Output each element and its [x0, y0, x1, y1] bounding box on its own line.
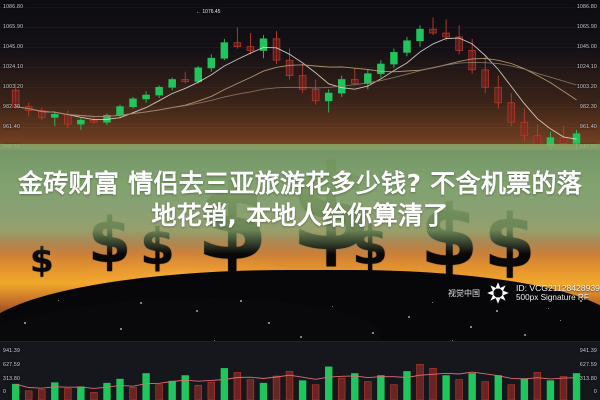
volume-bar	[469, 373, 476, 400]
candle-body	[130, 99, 137, 107]
candle-body	[377, 64, 384, 74]
volume-bar	[91, 392, 98, 400]
volume-tick-right-3: 0	[594, 389, 597, 395]
price-tick-right-0: 1086.80	[577, 4, 597, 10]
light-speck-19	[470, 326, 472, 328]
page-title: 金砖财富 情侣去三亚旅游花多少钱? 不含机票的落 地花销, 本地人给你算清了	[0, 168, 600, 232]
watermark-license: 500px Signature RF	[516, 293, 600, 303]
volume-bar	[325, 367, 332, 400]
candle-body	[64, 114, 71, 124]
light-speck-16	[240, 300, 242, 302]
image-canvas: 1086.801065.901045.001024.101003.20982.3…	[0, 0, 600, 400]
volume-bar	[169, 381, 176, 400]
candle-body	[391, 52, 398, 64]
candle-body	[417, 29, 424, 41]
volume-bar	[508, 385, 515, 400]
volume-bar	[430, 368, 437, 400]
volume-bar	[364, 382, 371, 400]
candle-body	[143, 95, 150, 99]
headline-line-1: 金砖财富 情侣去三亚旅游花多少钱? 不含机票的落	[18, 169, 582, 198]
candle-body	[521, 122, 528, 136]
candle-body	[117, 107, 124, 116]
volume-bar	[417, 364, 424, 400]
volume-bar	[260, 383, 267, 400]
volume-bar	[64, 389, 71, 400]
watermark-id: ID: VCG211284289394	[516, 283, 600, 293]
volume-bar	[12, 384, 19, 400]
candle-body	[469, 50, 476, 69]
candle-body	[430, 29, 437, 33]
volume-tick-right-0: 941.39	[580, 348, 597, 354]
candle-body	[351, 80, 358, 84]
volume-bar	[77, 387, 84, 400]
candle-body	[443, 33, 450, 37]
volume-tick-right-2: 313.80	[580, 376, 597, 382]
light-speck-4	[268, 322, 270, 324]
volume-bar	[25, 391, 32, 400]
candle-body	[325, 93, 332, 101]
price-tick-right-1: 1065.90	[577, 24, 597, 30]
light-speck-1	[120, 328, 122, 330]
volume-bar	[38, 390, 45, 400]
volume-bar	[104, 383, 111, 400]
volume-tick-right-1: 627.59	[580, 362, 597, 368]
candle-body	[91, 120, 98, 122]
volume-bar	[391, 385, 398, 400]
candle-body	[51, 114, 58, 117]
volume-bar	[156, 385, 163, 400]
volume-bar	[443, 376, 450, 400]
volume-bar	[51, 383, 58, 400]
volume-bar	[312, 385, 319, 400]
candle-body	[169, 80, 176, 88]
light-speck-7	[372, 332, 374, 334]
price-tick-left-2: 1045.00	[3, 44, 23, 50]
vcg-starburst-icon	[485, 280, 511, 306]
candle-body	[560, 138, 567, 144]
volume-bar	[117, 379, 124, 400]
candle-body	[286, 60, 293, 76]
volume-tick-left-2: 313.80	[3, 376, 20, 382]
price-tick-left-5: 982.30	[3, 104, 20, 110]
price-tick-left-4: 1003.20	[3, 84, 23, 90]
volume-bar	[182, 376, 189, 400]
moving-average-line-5	[16, 38, 577, 139]
volume-bar	[247, 380, 254, 400]
candle-body	[508, 103, 515, 122]
volume-chart-panel: 941.39627.59313.800 941.39627.59313.800	[0, 341, 600, 400]
volume-bar	[456, 380, 463, 400]
moving-average-line-24	[16, 62, 577, 116]
volume-bar	[221, 368, 228, 400]
volume-bars-plot	[0, 342, 600, 400]
volume-bar	[234, 372, 241, 400]
volume-bar	[273, 376, 280, 400]
headline-line-2: 地花销, 本地人给你算清了	[0, 200, 600, 232]
price-tick-right-6: 961.40	[580, 124, 597, 130]
candle-body	[234, 43, 241, 47]
candle-body	[208, 58, 215, 68]
watermark-text: ID: VCG211284289394 500px Signature RF	[516, 283, 600, 303]
price-tick-left-6: 961.40	[3, 124, 20, 130]
volume-bar	[404, 371, 411, 400]
light-speck-22	[24, 322, 26, 324]
price-tick-right-4: 1003.20	[577, 84, 597, 90]
light-speck-10	[496, 310, 498, 312]
price-tick-left-0: 1086.80	[3, 4, 23, 10]
candle-body	[312, 89, 319, 101]
candle-body	[495, 87, 502, 103]
price-tick-right-5: 982.30	[580, 104, 597, 110]
volume-tick-left-3: 0	[3, 389, 6, 395]
volume-tick-left-0: 941.39	[3, 348, 20, 354]
volume-tick-left-1: 627.59	[3, 362, 20, 368]
volume-bar	[338, 378, 345, 400]
volume-ma-line	[16, 372, 577, 388]
candle-body	[482, 70, 489, 87]
vcg-brand-label: 视觉中国	[448, 288, 480, 299]
volume-bar	[143, 373, 150, 400]
volume-bar	[521, 379, 528, 400]
candle-body	[182, 80, 189, 82]
volume-bar	[534, 372, 541, 400]
price-tick-right-3: 1024.10	[577, 64, 597, 70]
volume-bar	[495, 376, 502, 400]
volume-bar	[195, 385, 202, 400]
volume-bar	[547, 381, 554, 400]
volume-bar	[351, 373, 358, 400]
price-annotation: ← 1076.45	[196, 9, 220, 15]
price-tick-left-1: 1065.90	[3, 24, 23, 30]
watermark: 视觉中国 ID: VCG211284289394 500px Signature…	[448, 280, 600, 306]
candle-body	[273, 39, 280, 60]
candle-body	[364, 74, 371, 84]
candle-body	[404, 41, 411, 53]
volume-bar	[560, 377, 567, 400]
price-tick-left-3: 1024.10	[3, 64, 23, 70]
candle-body	[156, 87, 163, 95]
volume-bar	[130, 387, 137, 400]
candle-body	[77, 120, 84, 124]
candle-body	[247, 47, 254, 51]
volume-bar	[482, 382, 489, 400]
volume-bar	[208, 382, 215, 400]
volume-bar	[299, 381, 306, 400]
volume-bar	[377, 376, 384, 400]
price-tick-right-2: 1045.00	[577, 44, 597, 50]
candle-body	[195, 68, 202, 82]
candle-body	[221, 43, 228, 59]
